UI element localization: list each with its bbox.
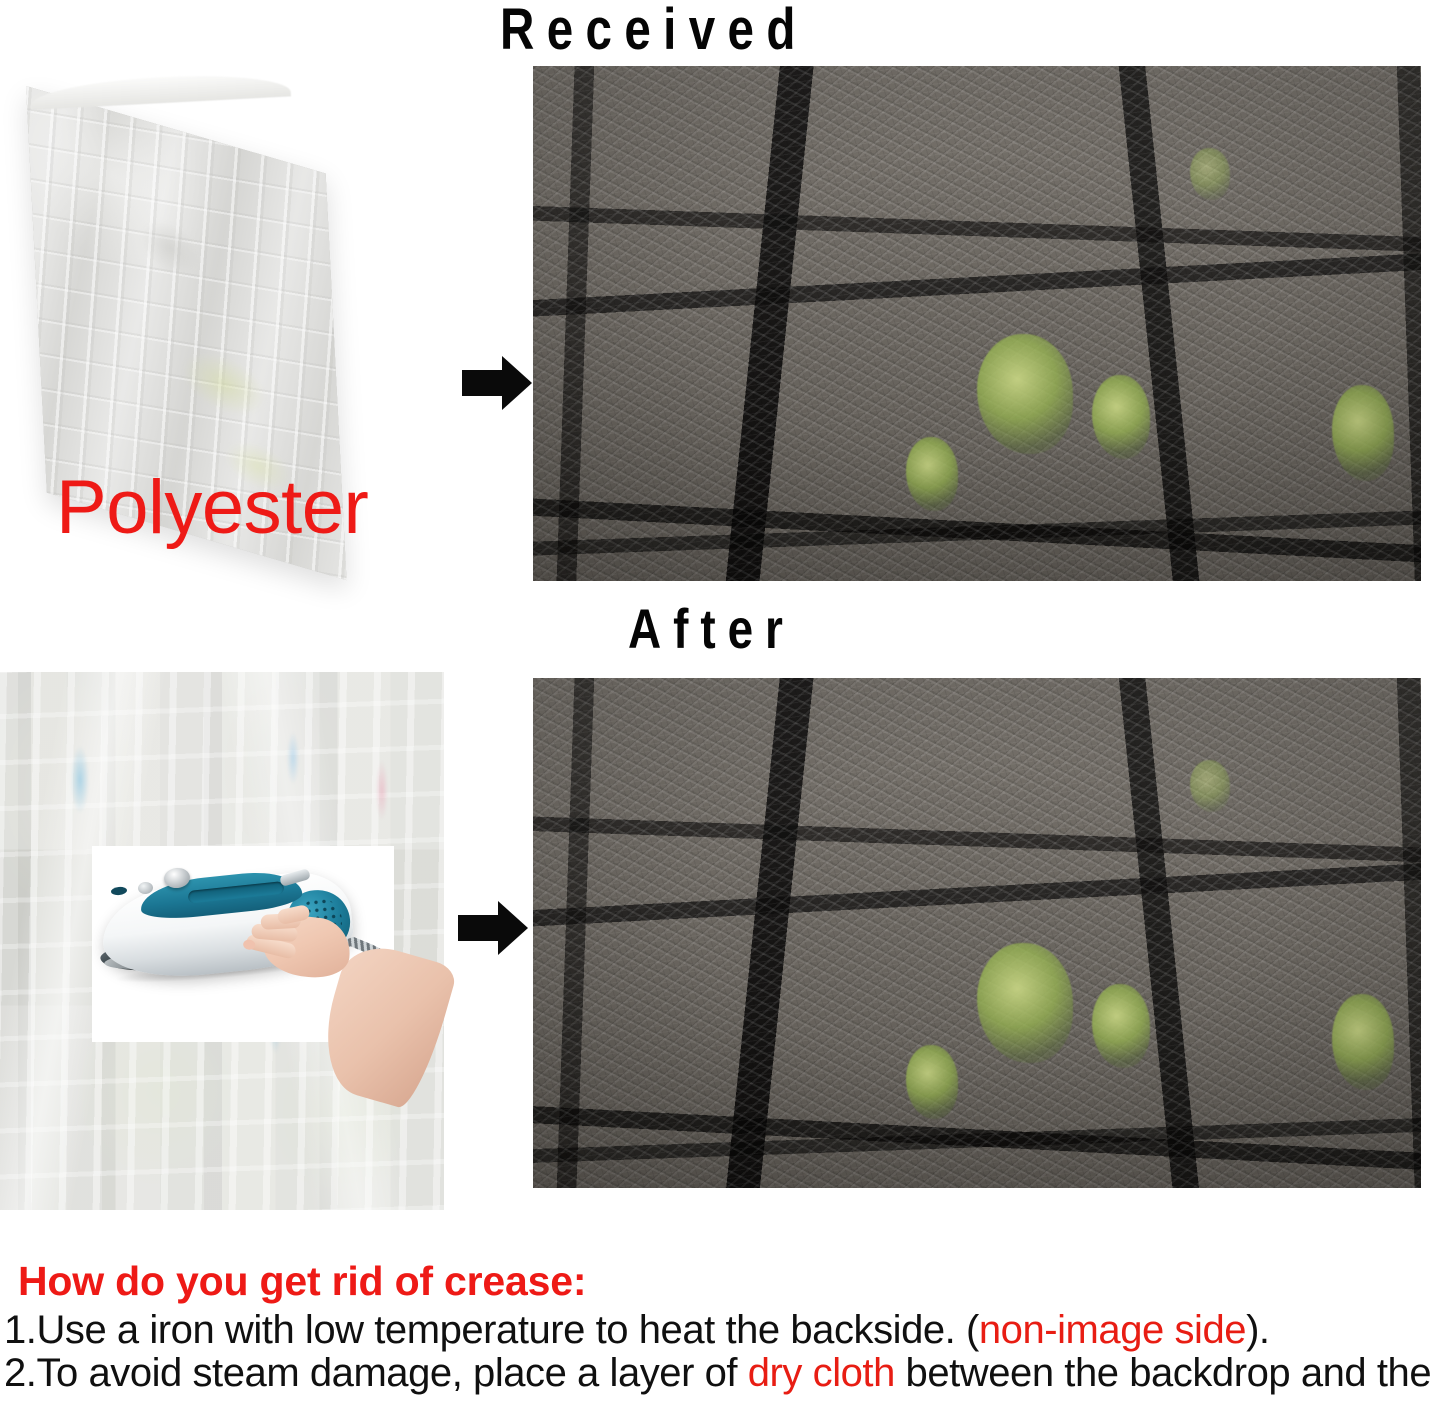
iron-front-vent <box>111 886 128 896</box>
fabric-top-edge <box>30 70 291 110</box>
care-instruction-line-2: 2.To avoid steam damage, place a layer o… <box>4 1351 1436 1396</box>
photo-vignette <box>533 66 1421 581</box>
photo-vignette <box>533 678 1421 1188</box>
care-line-2-prefix: 2.To avoid steam damage, place a layer o… <box>4 1351 748 1395</box>
fabric-swatch-image <box>18 84 438 504</box>
polyester-label: Polyester <box>56 464 368 551</box>
received-backdrop-photo <box>533 66 1421 581</box>
care-line-2-highlight: dry cloth <box>748 1351 895 1395</box>
care-line-1-prefix: 1.Use a iron with low temperature to hea… <box>4 1308 979 1352</box>
arrow-right-icon <box>458 900 528 956</box>
infographic-page: Received Polyester After <box>0 0 1436 1401</box>
iron-illustration <box>92 846 394 1042</box>
after-backdrop-photo <box>533 678 1421 1188</box>
arrow-head <box>498 901 528 955</box>
arrow-shaft <box>458 915 502 941</box>
care-line-2-suffix: between the backdrop and the iron. <box>895 1351 1436 1395</box>
steam-iron-photo <box>92 846 394 1042</box>
care-instructions-heading: How do you get rid of crease: <box>18 1258 586 1305</box>
arrow-shaft <box>462 370 506 396</box>
care-line-1-suffix: ). <box>1246 1308 1270 1352</box>
arrow-head <box>502 356 532 410</box>
care-instruction-line-1: 1.Use a iron with low temperature to hea… <box>4 1308 1270 1353</box>
received-title: Received <box>500 0 808 63</box>
hand <box>261 908 378 991</box>
after-title: After <box>628 596 795 661</box>
arrow-right-icon <box>462 355 532 411</box>
care-line-1-highlight: non-image side <box>979 1308 1246 1352</box>
